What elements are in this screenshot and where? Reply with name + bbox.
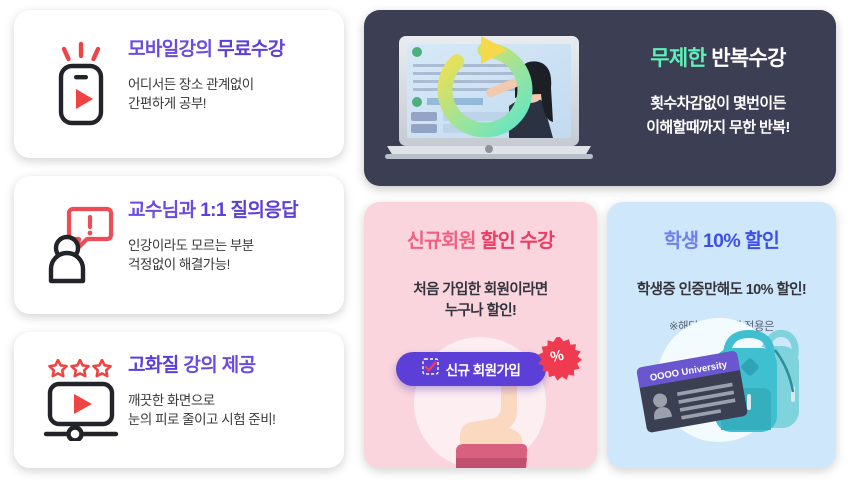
repeat-card-content: 무제한 반복수강 횟수차감없이 몇번이든 이해할때까지 무한 반복! <box>364 10 836 186</box>
promo-description: 학생증 인증만해도 10% 할인! <box>637 280 806 301</box>
feature-description: 깨끗한 화면으로 눈의 피로 줄이고 시험 준비! <box>128 391 275 430</box>
feature-title-highlight: 무료수강 <box>217 39 285 60</box>
promo-title: 신규회원 할인 수강 <box>407 224 554 253</box>
promo-content: 신규회원 할인 수강 처음 가입한 회원이라면 누구나 할인! <box>364 202 597 468</box>
checkbox-check-icon <box>422 358 439 380</box>
promo-title-plain: 학생 <box>664 230 703 252</box>
repeat-title: 무제한 반복수강 <box>614 42 822 72</box>
promo-grid: 모바일강의 무료수강 어디서든 장소 관계없이 간편하게 공부! 교수님과 1:… <box>0 0 850 480</box>
feature-description: 어디서든 장소 관계없이 간편하게 공부! <box>128 75 285 114</box>
student-id-backpack-illustration: OOOO University <box>607 308 836 468</box>
feature-text-block: 고화질 강의 제공 깨끗한 화면으로 눈의 피로 줄이고 시험 준비! <box>122 356 275 443</box>
repeat-text-block: 무제한 반복수강 횟수차감없이 몇번이든 이해할때까지 무한 반복! <box>614 42 836 154</box>
feature-title-plain: 강의 제공 <box>179 355 256 376</box>
repeat-title-plain: 반복수강 <box>706 47 786 70</box>
promo-card-new-member-discount[interactable]: 신규회원 할인 수강 처음 가입한 회원이라면 누구나 할인! <box>364 202 597 468</box>
feature-card-content: 고화질 강의 제공 깨끗한 화면으로 눈의 피로 줄이고 시험 준비! <box>14 332 344 468</box>
feature-card-mobile-free[interactable]: 모바일강의 무료수강 어디서든 장소 관계없이 간편하게 공부! <box>14 10 344 158</box>
feature-card-high-quality[interactable]: 고화질 강의 제공 깨끗한 화면으로 눈의 피로 줄이고 시험 준비! <box>14 332 344 468</box>
feature-card-content: 교수님과 1:1 질의응답 인강이라도 모르는 부분 걱정없이 해결가능! <box>14 176 344 314</box>
promo-title-plain: 신규회원 <box>407 230 481 252</box>
signup-button[interactable]: 신규 회원가입 <box>396 352 546 386</box>
feature-title: 교수님과 1:1 질의응답 <box>128 201 298 222</box>
laptop-lecture-illustration <box>364 28 614 168</box>
feature-title-plain: 교수님과 <box>128 200 200 221</box>
feature-title: 모바일강의 무료수강 <box>128 40 285 61</box>
repeat-description: 횟수차감없이 몇번이든 이해할때까지 무한 반복! <box>614 92 822 139</box>
unlimited-repeat-card[interactable]: 무제한 반복수강 횟수차감없이 몇번이든 이해할때까지 무한 반복! <box>364 10 836 186</box>
feature-title-plain: 모바일강의 <box>128 39 217 60</box>
promo-description: 처음 가입한 회원이라면 누구나 할인! <box>413 280 547 322</box>
promo-card-student-discount[interactable]: 학생 10% 할인 학생증 인증만해도 10% 할인! ※해당 할인혜택 적용은… <box>607 202 836 468</box>
feature-card-one-on-one-qa[interactable]: 교수님과 1:1 질의응답 인강이라도 모르는 부분 걱정없이 해결가능! <box>14 176 344 314</box>
promo-title-highlight: 10% 할인 <box>703 230 779 252</box>
promo-title-highlight: 할인 수강 <box>481 230 555 252</box>
mobile-play-icon <box>40 41 122 127</box>
repeat-title-highlight: 무제한 <box>650 47 706 70</box>
feature-title-highlight: 고화질 <box>128 355 179 376</box>
promo-title: 학생 10% 할인 <box>664 224 779 253</box>
feature-text-block: 모바일강의 무료수강 어디서든 장소 관계없이 간편하게 공부! <box>122 40 285 127</box>
feature-card-content: 모바일강의 무료수강 어디서든 장소 관계없이 간편하게 공부! <box>14 10 344 158</box>
person-question-icon <box>40 205 122 285</box>
percent-badge-label: % <box>533 332 580 379</box>
feature-text-block: 교수님과 1:1 질의응답 인강이라도 모르는 부분 걱정없이 해결가능! <box>122 201 298 288</box>
signup-button-label: 신규 회원가입 <box>446 359 521 379</box>
feature-description: 인강이라도 모르는 부분 걱정없이 해결가능! <box>128 236 298 275</box>
video-stars-icon <box>40 359 122 441</box>
percent-badge: % <box>537 336 577 376</box>
promo-content: 학생 10% 할인 학생증 인증만해도 10% 할인! ※해당 할인혜택 적용은… <box>607 202 836 468</box>
feature-title: 고화질 강의 제공 <box>128 356 275 377</box>
feature-title-highlight: 1:1 질의응답 <box>200 200 298 221</box>
